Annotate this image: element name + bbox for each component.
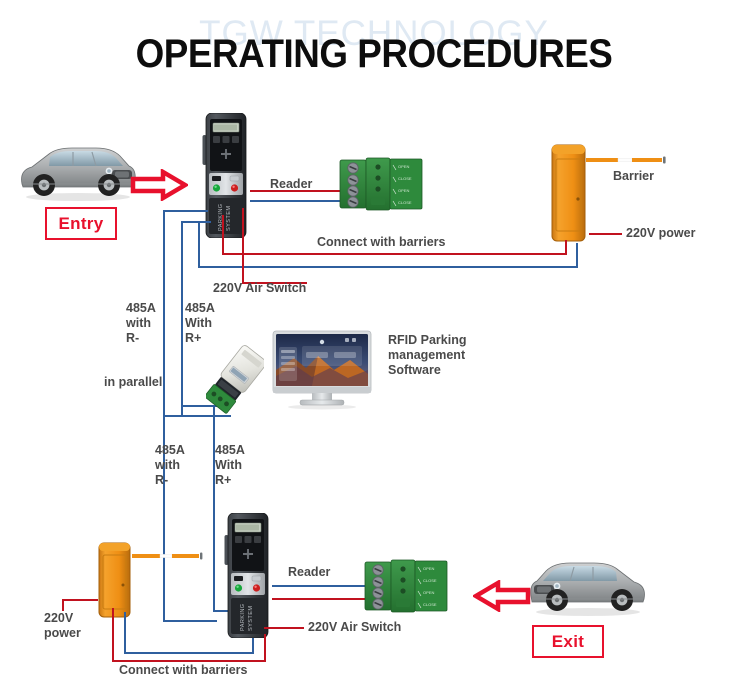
bus-label-lower-left-l2: with [155,458,185,473]
svg-text:SYSTEM: SYSTEM [226,206,232,231]
barrier-blue-wire-v2-entry [576,243,578,268]
barrier-red-wire-exit-v2 [264,634,266,662]
barrier-gate-entry [549,143,589,243]
svg-text:CLOSE: CLOSE [398,200,412,205]
entry-vehicle [16,140,138,202]
power-label-exit: 220V power [44,611,81,641]
software-label-l1: RFID Parking [388,333,467,348]
barrier-boom-arm-entry [586,152,670,162]
barrier-power-wire-entry [589,233,622,235]
bus-label-lower-left-l1: 485A [155,443,185,458]
svg-text:SYSTEM: SYSTEM [248,606,254,631]
bus-label-lower-left-l3: R- [155,473,185,488]
bus-label-upper-left: 485A with R- [126,301,156,346]
software-label: RFID Parking management Software [388,333,467,378]
bus-label-lower-right-l3: R+ [215,473,245,488]
in-parallel-label: in parallel [104,375,162,389]
bus-wire-left-top-h [163,210,208,212]
bus-label-lower-right-l1: 485A [215,443,245,458]
software-label-l2: management [388,348,467,363]
svg-text:OPEN: OPEN [398,164,409,169]
bus-label-lower-left: 485A with R- [155,443,185,488]
green-terminal-block-entry: OPEN CLOSE OPEN CLOSE [338,156,424,212]
air-switch-wire-exit [264,627,304,629]
air-switch-label-exit: 220V Air Switch [308,620,401,634]
green-terminal-block-exit: OPEN CLOSE OPEN CLOSE [363,558,449,614]
bus-label-upper-right: 485A With R+ [185,301,215,346]
barrier-label-entry: Barrier [613,169,654,183]
bus-wire-right-lower [213,405,215,610]
reader-wire-red-exit [272,598,370,600]
svg-text:CLOSE: CLOSE [423,602,437,607]
reader-wire-blue-entry [250,200,345,202]
barrier-blue-wire-h-entry [198,266,576,268]
entry-label-box: Entry [45,207,117,240]
power-label-entry: 220V power [626,226,695,240]
svg-text:OPEN: OPEN [423,566,434,571]
barrier-blue-wire-exit-h [124,652,252,654]
bus-wire-right-top-h [181,221,211,223]
barrier-power-wire-exit-v [62,599,64,611]
bus-label-upper-left-l2: with [126,316,156,331]
reader-wire-blue-exit [272,585,370,587]
bus-label-upper-right-l2: With [185,316,215,331]
bus-label-lower-right: 485A With R+ [215,443,245,488]
entry-direction-arrow [130,169,188,201]
air-switch-label-entry: 220V Air Switch [213,281,306,295]
software-label-l3: Software [388,363,467,378]
parking-terminal-exit: PARKING SYSTEM [224,513,272,638]
page-title: OPERATING PROCEDURES [30,32,718,77]
connect-barriers-label-entry: Connect with barriers [317,235,446,249]
barrier-red-wire-v2-entry [565,240,567,255]
reader-wire-red-entry [250,190,345,192]
bus-label-upper-right-l1: 485A [185,301,215,316]
reader-label-exit: Reader [288,565,330,579]
barrier-power-wire-exit-h [62,599,98,601]
diagram-canvas: TGW TECHNOLOGY OPERATING PROCEDURES [0,0,748,694]
barrier-blue-wire-exit-v2 [252,638,254,654]
svg-text:PARKING: PARKING [240,603,246,631]
entry-label-text: Entry [59,214,104,234]
barrier-red-wire-exit-h [112,660,264,662]
exit-direction-arrow [473,580,531,612]
bus-label-upper-left-l1: 485A [126,301,156,316]
exit-label-text: Exit [552,632,584,652]
connect-barriers-label-exit: Connect with barriers [119,663,248,677]
bus-label-upper-left-l3: R- [126,331,156,346]
desktop-computer [272,330,372,410]
bus-wire-left-upper [163,210,165,415]
svg-text:OPEN: OPEN [423,590,434,595]
exit-vehicle [528,555,650,617]
barrier-gate-exit [96,541,134,619]
bus-wire-left-bottom-h [163,620,217,622]
bus-wire-right-upper [181,221,183,415]
barrier-red-wire-exit-v1 [112,608,114,660]
bus-label-lower-right-l2: With [215,458,245,473]
reader-label-entry: Reader [270,177,312,191]
power-label-exit-l2: power [44,626,81,641]
air-switch-wire-v-entry [242,208,244,282]
barrier-blue-wire-exit-v1 [124,612,126,652]
barrier-boom-arm-exit [132,548,206,558]
exit-label-box: Exit [532,625,604,658]
power-label-exit-l1: 220V [44,611,81,626]
svg-text:OPEN: OPEN [398,188,409,193]
barrier-blue-wire-v1-entry [198,222,200,266]
svg-text:CLOSE: CLOSE [398,176,412,181]
barrier-red-wire-v1-entry [222,215,224,253]
barrier-red-wire-h-entry [222,253,565,255]
svg-text:CLOSE: CLOSE [423,578,437,583]
